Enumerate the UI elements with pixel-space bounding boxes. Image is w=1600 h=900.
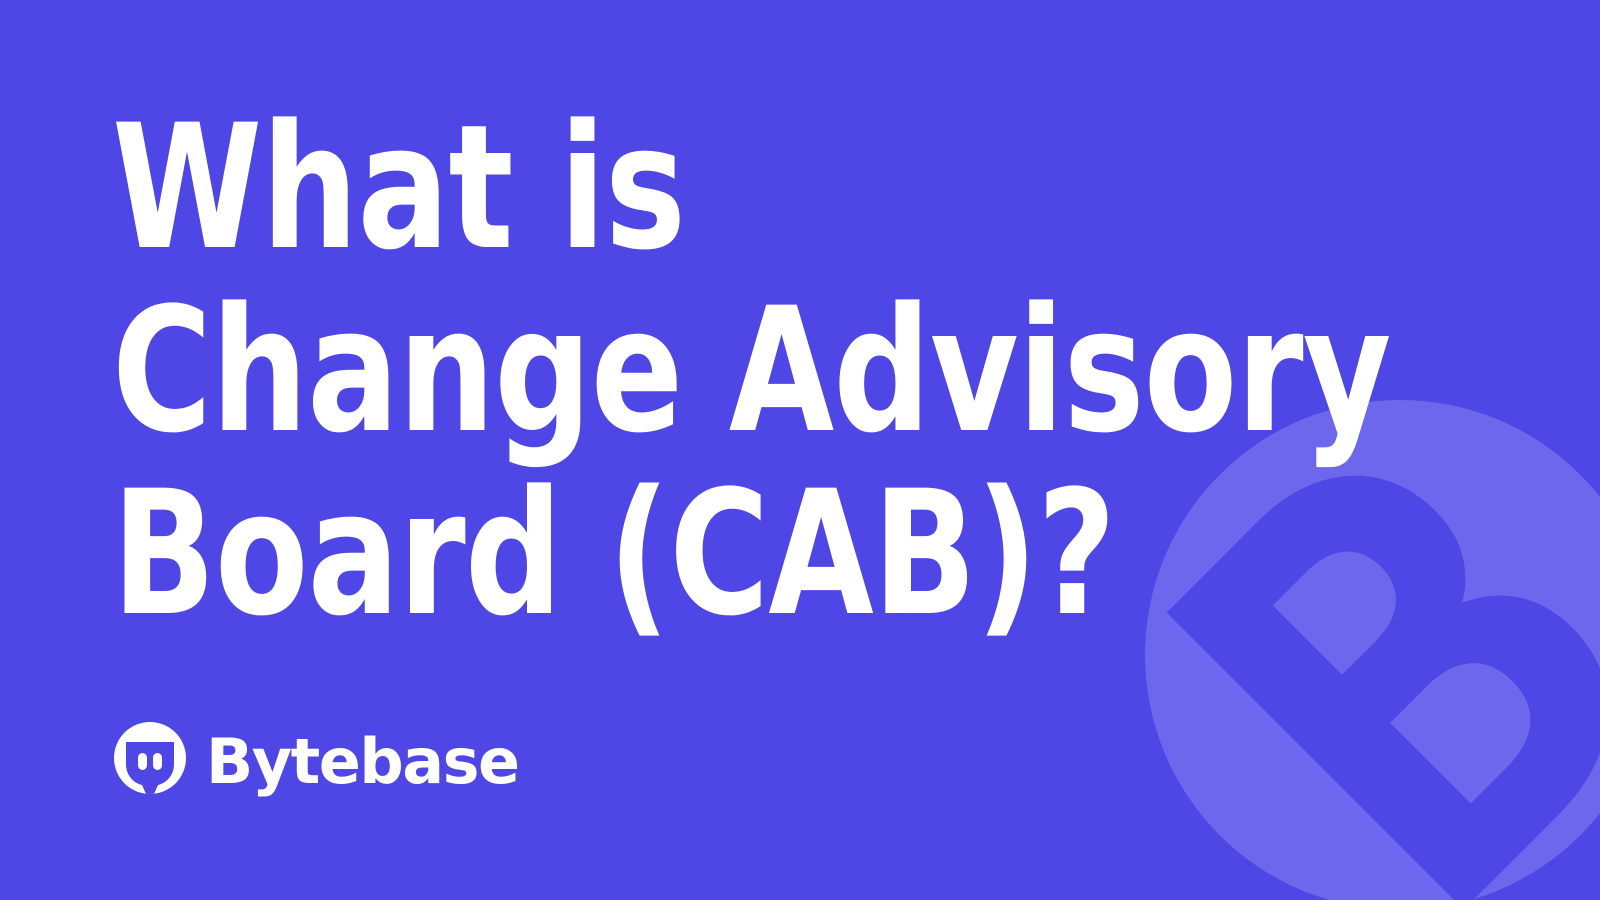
headline-line-1: What is xyxy=(112,96,1010,279)
bytebase-logo-icon xyxy=(112,722,188,802)
cover-canvas: What is Change Advisory Board (CAB)? xyxy=(0,0,1600,900)
headline-line-2: Change Advisory xyxy=(112,279,1010,462)
page-title: What is Change Advisory Board (CAB)? xyxy=(112,96,1132,645)
headline-line-3: Board (CAB)? xyxy=(112,462,1010,645)
background-watermark xyxy=(1145,400,1600,900)
watermark-b-monogram xyxy=(1167,417,1600,900)
brand-lockup: Bytebase xyxy=(112,722,519,802)
brand-wordmark: Bytebase xyxy=(206,731,519,793)
watermark-circle xyxy=(1145,400,1600,900)
